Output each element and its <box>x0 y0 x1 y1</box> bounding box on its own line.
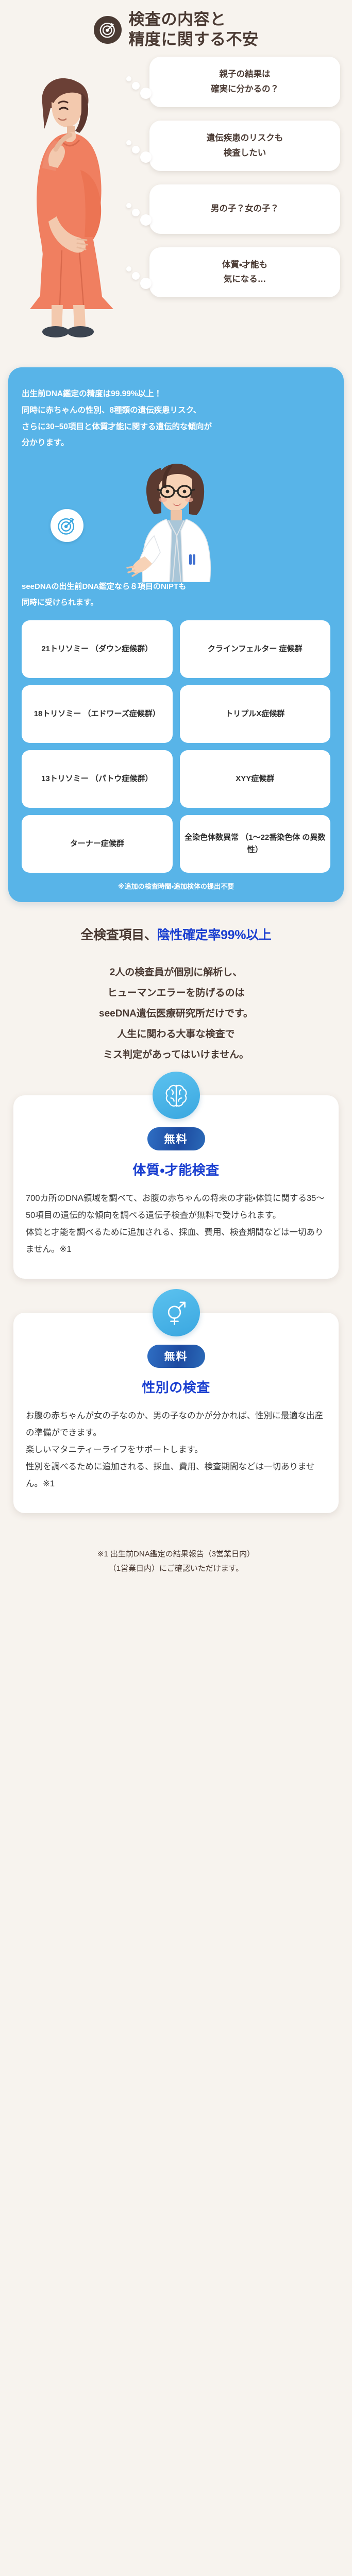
speech-bubble-2-line2: 検査したい <box>158 146 332 161</box>
speech-bubble-4: 体質・才能も 気になる… <box>149 247 340 298</box>
card-text: 700カ所のDNA領域を調べて、お腹の赤ちゃんの将来の才能・体質に関する35～5… <box>26 1190 326 1258</box>
section-headline: 全検査項目、陰性確定率99%以上 <box>0 926 352 945</box>
nipt-sub-text: seeDNAの出生前DNA鑑定なら８項目のNIPTも 同時に受けられます。 <box>22 579 330 611</box>
nipt-item: トリプルX症候群 <box>180 685 331 743</box>
page-title-line2: 精度に関する不安 <box>129 30 259 50</box>
accuracy-panel: 出生前DNA鑑定の精度は99.99%以上！ 同時に赤ちゃんの性別、8種類の遺伝疾… <box>8 367 344 902</box>
footnote-line1: ※1 出生前DNA鑑定の結果報告（3営業日内） <box>14 1547 338 1562</box>
bubble-tail-dots-1 <box>126 72 153 100</box>
nipt-item-grid: 21トリソミー （ダウン症候群） クラインフェルター 症候群 18トリソミー （… <box>22 620 330 873</box>
speech-bubble-2: 遺伝疾患のリスクも 検査したい <box>149 121 340 171</box>
bubble-tail-dots-4 <box>126 262 153 290</box>
feature-card-list: 無料 体質・才能検査 700カ所のDNA領域を調べて、お腹の赤ちゃんの将来の才能… <box>0 1095 352 1513</box>
accuracy-lead-line1: 出生前DNA鑑定の精度は99.99%以上！ <box>22 386 330 402</box>
brain-icon <box>153 1072 200 1119</box>
gender-symbol-icon <box>153 1289 200 1336</box>
feature-card-constitution-talent: 無料 体質・才能検査 700カ所のDNA領域を調べて、お腹の赤ちゃんの将来の才能… <box>13 1095 339 1279</box>
section-body-copy: 2人の検査員が個別に解析し、 ヒューマンエラーを防げるのは seeDNA遺伝医療… <box>0 962 352 1065</box>
nipt-item: 18トリソミー （エドワーズ症候群） <box>22 685 173 743</box>
target-icon <box>94 16 122 44</box>
speech-bubble-1-line1: 親子の結果は <box>158 67 332 82</box>
pregnant-woman-illustration <box>20 67 118 350</box>
doctor-illustration-wrap <box>22 453 330 582</box>
bubble-tail-dots-3 <box>126 199 153 227</box>
headline-prefix: 全検査項目、 <box>80 928 157 942</box>
body-copy-line4: 人生に関わる大事な検査で <box>11 1024 341 1045</box>
nipt-sub-line1: seeDNAの出生前DNA鑑定なら８項目のNIPTも <box>22 579 330 595</box>
nipt-item: 全染色体数異常 （1～22番染色体 の異数性） <box>180 815 331 873</box>
footnote-line2: （1営業日内）にご確認いただけます。 <box>14 1562 338 1577</box>
speech-bubble-1: 親子の結果は 確実に分かるの？ <box>149 57 340 107</box>
feature-card-gender-test: 無料 性別の検査 お腹の赤ちゃんが女の子なのか、男の子なのかが分かれば、性別に最… <box>13 1313 339 1513</box>
speech-bubble-3-line1: 男の子？女の子？ <box>158 201 332 216</box>
hero-section: 親子の結果は 確実に分かるの？ 遺伝疾患のリスクも 検査したい 男の子？女の子？… <box>0 57 352 358</box>
speech-bubble-list: 親子の結果は 確実に分かるの？ 遺伝疾患のリスクも 検査したい 男の子？女の子？… <box>149 57 340 311</box>
target-icon <box>51 509 83 542</box>
page-title: 検査の内容と 精度に関する不安 <box>129 10 259 50</box>
body-copy-line2: ヒューマンエラーを防げるのは <box>11 983 341 1004</box>
speech-bubble-1-line2: 確実に分かるの？ <box>158 82 332 97</box>
feature-card-body: 無料 体質・才能検査 700カ所のDNA領域を調べて、お腹の赤ちゃんの将来の才能… <box>13 1095 339 1279</box>
nipt-item: 21トリソミー （ダウン症候群） <box>22 620 173 678</box>
nipt-item: クラインフェルター 症候群 <box>180 620 331 678</box>
page-title-line1: 検査の内容と <box>129 10 259 30</box>
body-copy-line5: ミス判定があってはいけません。 <box>11 1045 341 1065</box>
accuracy-lead-text: 出生前DNA鑑定の精度は99.99%以上！ 同時に赤ちゃんの性別、8種類の遺伝疾… <box>22 386 330 451</box>
feature-card-body: 無料 性別の検査 お腹の赤ちゃんが女の子なのか、男の子なのかが分かれば、性別に最… <box>13 1313 339 1513</box>
bubble-tail-dots-2 <box>126 136 153 164</box>
free-badge: 無料 <box>147 1127 205 1150</box>
doctor-illustration <box>112 453 241 582</box>
body-copy-line1: 2人の検査員が個別に解析し、 <box>11 962 341 983</box>
nipt-item: ターナー症候群 <box>22 815 173 873</box>
accuracy-lead-line3: さらに30~50項目と体質才能に関する遺伝的な傾向が <box>22 419 330 435</box>
speech-bubble-2-line1: 遺伝疾患のリスクも <box>158 131 332 146</box>
free-badge: 無料 <box>147 1345 205 1368</box>
nipt-item: 13トリソミー （パトウ症候群） <box>22 750 173 808</box>
nipt-sub-line2: 同時に受けられます。 <box>22 595 330 611</box>
page-footnote: ※1 出生前DNA鑑定の結果報告（3営業日内） （1営業日内）にご確認いただけま… <box>0 1547 352 1577</box>
card-text: お腹の赤ちゃんが女の子なのか、男の子なのかが分かれば、性別に最適な出産の準備がで… <box>26 1408 326 1493</box>
card-title: 体質・才能検査 <box>26 1160 326 1179</box>
speech-bubble-4-line2: 気になる… <box>158 272 332 287</box>
speech-bubble-4-line1: 体質・才能も <box>158 258 332 273</box>
page-header: 検査の内容と 精度に関する不安 <box>0 0 352 57</box>
accuracy-lead-line2: 同時に赤ちゃんの性別、8種類の遺伝疾患リスク、 <box>22 402 330 419</box>
card-title: 性別の検査 <box>26 1377 326 1396</box>
body-copy-line3: seeDNA遺伝医療研究所だけです。 <box>11 1004 341 1024</box>
speech-bubble-3: 男の子？女の子？ <box>149 184 340 234</box>
nipt-item: XYY症候群 <box>180 750 331 808</box>
headline-accent: 陰性確定率99%以上 <box>157 928 272 942</box>
accuracy-lead-line4: 分かります。 <box>22 435 330 451</box>
nipt-note: ※追加の検査時間・追加検体の提出不要 <box>22 881 330 891</box>
